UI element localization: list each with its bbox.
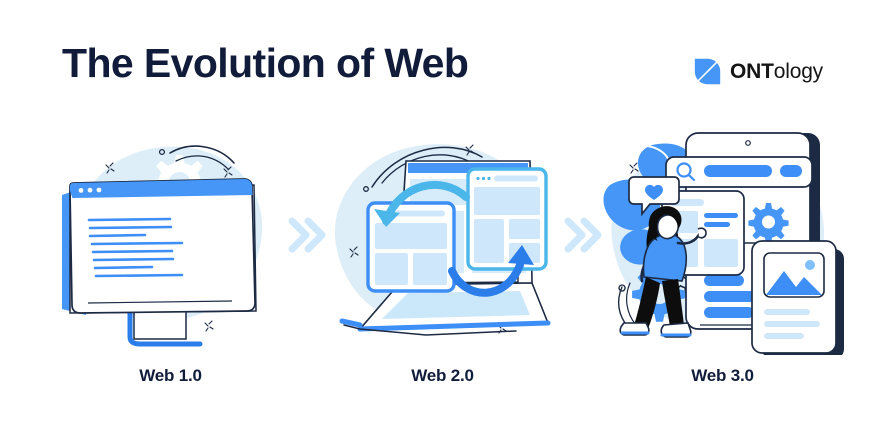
search-bar: [666, 157, 812, 187]
stage-separator-1: [286, 213, 330, 257]
ontology-leaf-icon: [694, 58, 721, 85]
image-card: [752, 241, 844, 355]
search-tag-pill: [780, 165, 802, 177]
image-sun-icon: [805, 260, 815, 270]
sparkle-icon-3: [205, 321, 213, 331]
page-title: The Evolution of Web: [62, 40, 468, 87]
illustration-web1: [48, 125, 293, 355]
shoe-back: [620, 323, 649, 335]
illustration-web3: [600, 125, 845, 355]
window-dots: [79, 188, 102, 193]
brand-logo: ONTology: [694, 58, 823, 85]
brand-logo-text: ONTology: [730, 61, 823, 82]
gear-icon-settings: [748, 203, 788, 243]
stage-caption-web2: Web 2.0: [320, 366, 565, 386]
window-dots: [476, 177, 490, 180]
illustration-web2: [320, 125, 565, 355]
hand: [698, 228, 706, 238]
search-query-pill: [704, 165, 772, 177]
brand-logo-text-bold: ONT: [730, 60, 774, 83]
sparkle-icon: [630, 163, 638, 173]
infographic-canvas: The Evolution of Web ONTology: [0, 0, 875, 431]
brand-logo-text-light: ology: [774, 60, 823, 83]
stage-separator-2: [562, 213, 606, 257]
stage-caption-web1: Web 1.0: [48, 366, 293, 386]
stage-caption-web3: Web 3.0: [600, 366, 845, 386]
browser-window: [70, 179, 255, 313]
floating-browser-window-right: [468, 169, 546, 269]
shoe-front: [661, 323, 691, 337]
